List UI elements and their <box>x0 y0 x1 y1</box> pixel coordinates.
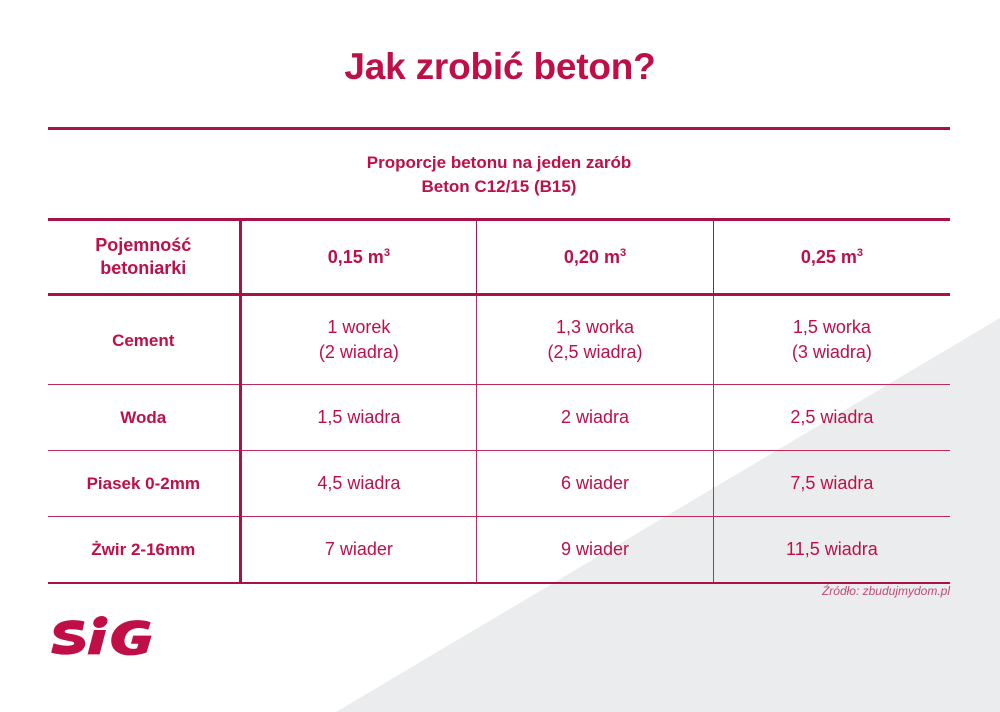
proportions-table-block: Proporcje betonu na jeden zarób Beton C1… <box>48 127 950 584</box>
subtitle-line-1: Proporcje betonu na jeden zarób <box>48 151 950 175</box>
table-header-row: Pojemność betoniarki 0,15 m3 0,20 m3 0,2… <box>48 220 950 295</box>
cell-woda-c3: 2,5 wiadra <box>713 385 950 451</box>
row-label-zwir: Żwir 2-16mm <box>48 517 240 584</box>
cell-cement-c1: 1 worek (2 wiadra) <box>240 295 477 385</box>
table-subtitle: Proporcje betonu na jeden zarób Beton C1… <box>48 130 950 218</box>
cell-cement-c3-sub: (3 wiadra) <box>714 340 950 365</box>
cell-cement-c3: 1,5 worka (3 wiadra) <box>713 295 950 385</box>
sig-logo <box>50 614 154 662</box>
header-column-1: 0,15 m3 <box>240 220 477 295</box>
cell-woda-c1: 1,5 wiadra <box>240 385 477 451</box>
row-label-woda: Woda <box>48 385 240 451</box>
cell-cement-c2: 1,3 worka (2,5 wiadra) <box>477 295 714 385</box>
cell-piasek-c1: 4,5 wiadra <box>240 451 477 517</box>
row-label-piasek: Piasek 0-2mm <box>48 451 240 517</box>
source-attribution: Źródło: zbudujmydom.pl <box>822 584 950 598</box>
header-column-3-value: 0,25 m <box>801 247 857 267</box>
header-column-3-unit-sup: 3 <box>857 247 863 259</box>
header-label-capacity: Pojemność betoniarki <box>48 220 240 295</box>
cell-piasek-c3: 7,5 wiadra <box>713 451 950 517</box>
header-label-line-2: betoniarki <box>48 257 239 280</box>
subtitle-line-2: Beton C12/15 (B15) <box>48 175 950 199</box>
table-row: Żwir 2-16mm 7 wiader 9 wiader 11,5 wiadr… <box>48 517 950 584</box>
header-column-2-value: 0,20 m <box>564 247 620 267</box>
header-column-1-value: 0,15 m <box>328 247 384 267</box>
header-column-2-unit-sup: 3 <box>620 247 626 259</box>
table-row: Cement 1 worek (2 wiadra) 1,3 worka (2,5… <box>48 295 950 385</box>
row-label-cement: Cement <box>48 295 240 385</box>
page-title: Jak zrobić beton? <box>0 46 1000 88</box>
cell-cement-c1-sub: (2 wiadra) <box>242 340 477 365</box>
cell-woda-c2: 2 wiadra <box>477 385 714 451</box>
cell-cement-c2-main: 1,3 worka <box>477 315 713 340</box>
table-row: Piasek 0-2mm 4,5 wiadra 6 wiader 7,5 wia… <box>48 451 950 517</box>
table-body: Cement 1 worek (2 wiadra) 1,3 worka (2,5… <box>48 295 950 584</box>
cell-zwir-c2: 9 wiader <box>477 517 714 584</box>
header-column-3: 0,25 m3 <box>713 220 950 295</box>
cell-cement-c3-main: 1,5 worka <box>714 315 950 340</box>
header-column-1-unit-sup: 3 <box>384 247 390 259</box>
cell-cement-c2-sub: (2,5 wiadra) <box>477 340 713 365</box>
header-label-line-1: Pojemność <box>48 234 239 257</box>
cell-piasek-c2: 6 wiader <box>477 451 714 517</box>
table-row: Woda 1,5 wiadra 2 wiadra 2,5 wiadra <box>48 385 950 451</box>
cell-cement-c1-main: 1 worek <box>242 315 477 340</box>
cell-zwir-c3: 11,5 wiadra <box>713 517 950 584</box>
concrete-proportions-table: Pojemność betoniarki 0,15 m3 0,20 m3 0,2… <box>48 218 950 584</box>
infographic-page: Jak zrobić beton? Proporcje betonu na je… <box>0 0 1000 712</box>
cell-zwir-c1: 7 wiader <box>240 517 477 584</box>
table-head: Pojemność betoniarki 0,15 m3 0,20 m3 0,2… <box>48 220 950 295</box>
header-column-2: 0,20 m3 <box>477 220 714 295</box>
